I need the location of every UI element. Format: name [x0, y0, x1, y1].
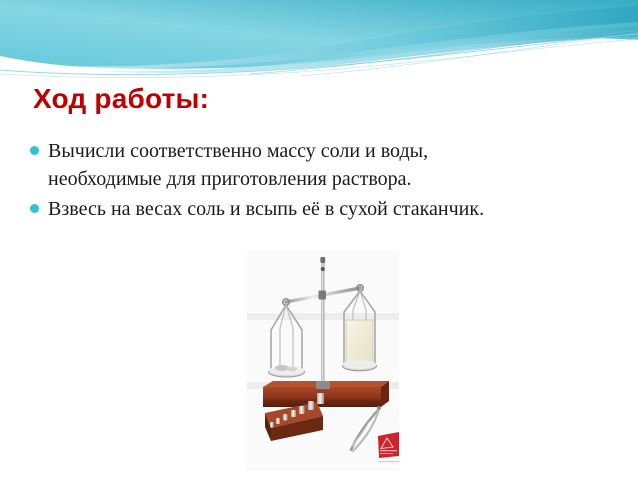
balance-scale-illustration — [247, 250, 399, 471]
bullet-line: Взвесь на весах соль и всыпь её в сухой … — [48, 195, 608, 223]
list-item: Вычисли соответственно массу соли и воды… — [30, 137, 608, 193]
bullet-text: Взвесь на весах соль и всыпь её в сухой … — [48, 195, 608, 223]
laboratory-balance-scale-photo — [247, 250, 399, 471]
bullet-line: необходимые для приготовления раствора. — [48, 165, 608, 193]
bullet-dot-icon — [30, 204, 39, 213]
bullet-line: Вычисли соответственно массу соли и воды… — [48, 137, 608, 165]
bullet-list: Вычисли соответственно массу соли и воды… — [30, 137, 608, 225]
header-wave-decoration — [0, 0, 638, 78]
list-item: Взвесь на весах соль и всыпь её в сухой … — [30, 195, 608, 223]
presentation-slide: Ход работы: Вычисли соответственно массу… — [0, 0, 638, 479]
photo-overlay — [247, 250, 399, 471]
bullet-text: Вычисли соответственно массу соли и воды… — [48, 137, 608, 193]
header-wave-graphic — [0, 0, 638, 78]
slide-title: Ход работы: — [33, 83, 209, 115]
bullet-dot-icon — [30, 146, 39, 155]
